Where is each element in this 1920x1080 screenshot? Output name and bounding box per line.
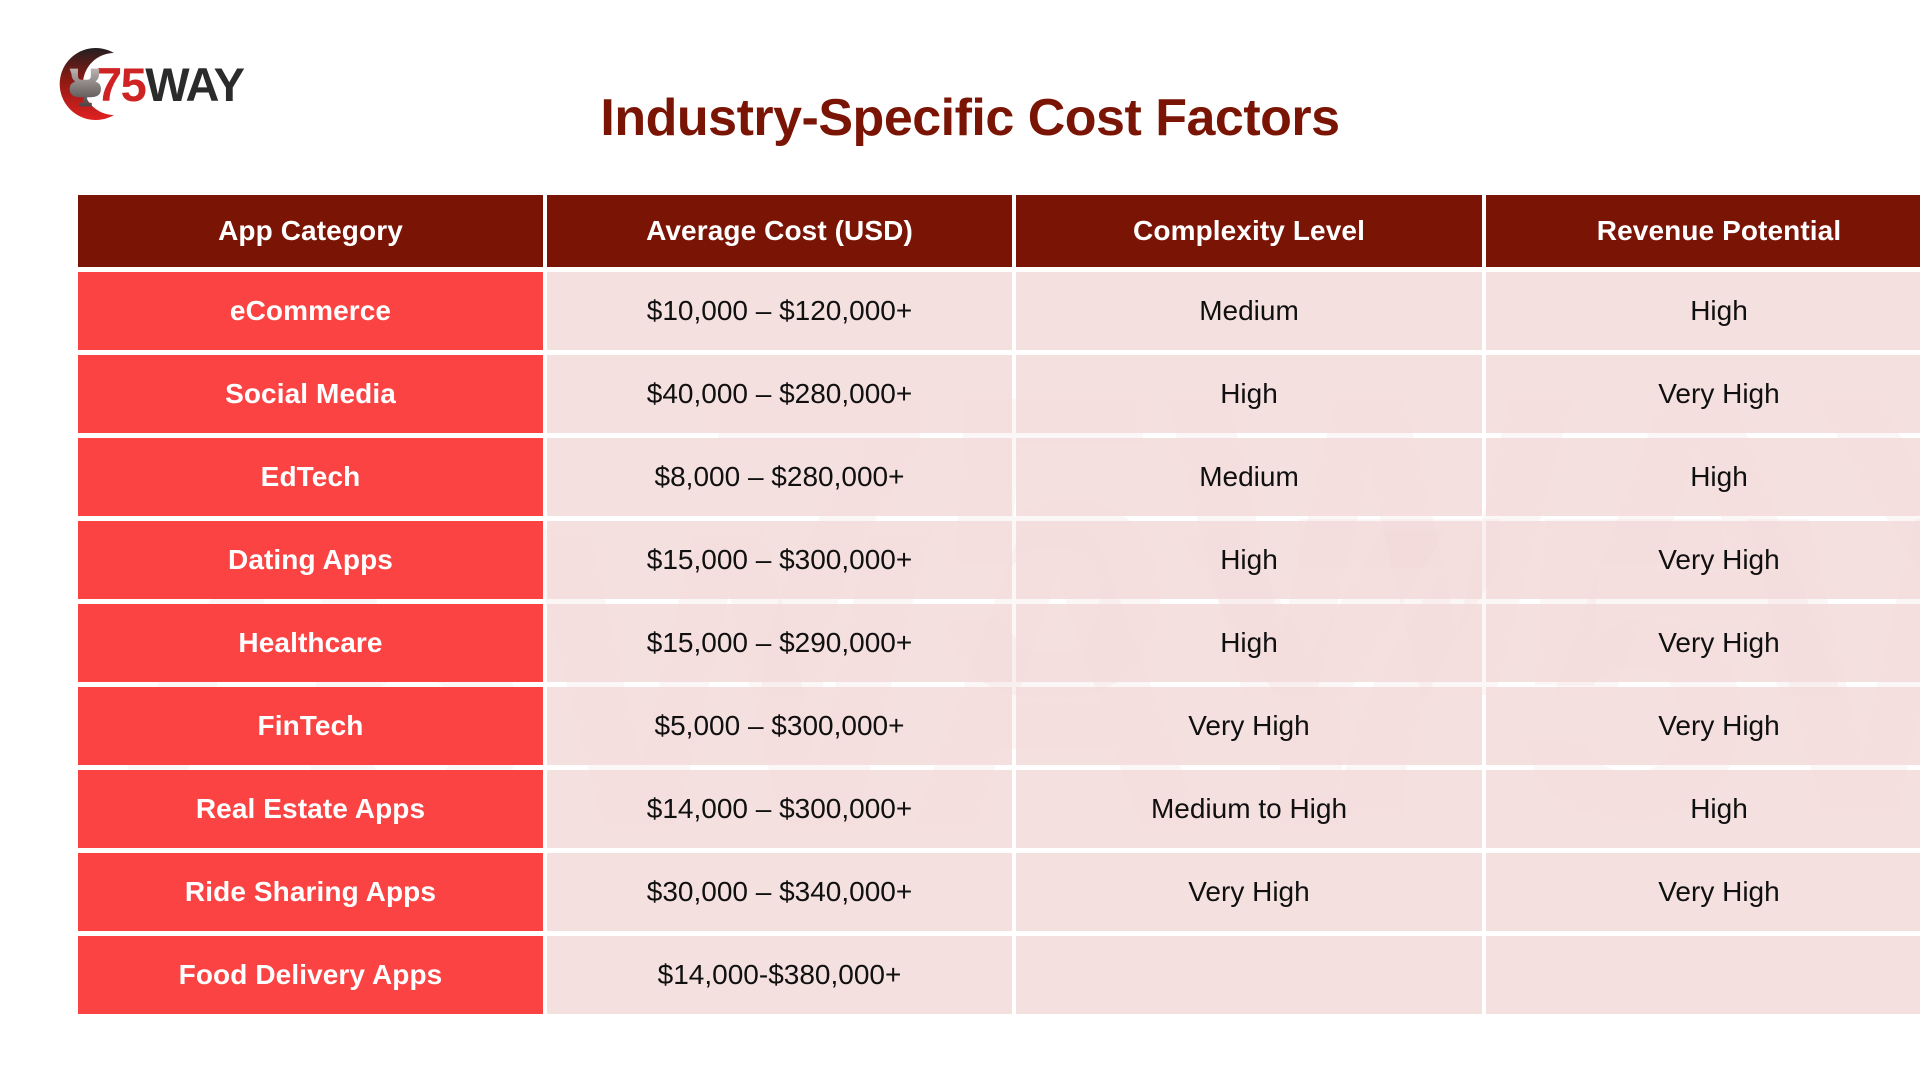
cell-category: Ride Sharing Apps	[78, 853, 543, 931]
column-header-complexity-level: Complexity Level	[1016, 195, 1482, 267]
table-row: Food Delivery Apps $14,000-$380,000+	[78, 936, 1920, 1014]
cell-cost: $14,000-$380,000+	[547, 936, 1012, 1014]
cost-factors-table: App Category Average Cost (USD) Complexi…	[74, 190, 1920, 1019]
cell-complexity: Very High	[1016, 687, 1482, 765]
cell-complexity: Medium to High	[1016, 770, 1482, 848]
cell-revenue: High	[1486, 438, 1920, 516]
cell-complexity: High	[1016, 521, 1482, 599]
cost-factors-table-wrapper: App Category Average Cost (USD) Complexi…	[34, 190, 1886, 1019]
cell-cost: $8,000 – $280,000+	[547, 438, 1012, 516]
cell-category: Healthcare	[78, 604, 543, 682]
cell-cost: $15,000 – $300,000+	[547, 521, 1012, 599]
page-title: Industry-Specific Cost Factors	[0, 88, 1920, 148]
column-header-revenue-potential: Revenue Potential	[1486, 195, 1920, 267]
cell-category: EdTech	[78, 438, 543, 516]
table-header-row: App Category Average Cost (USD) Complexi…	[78, 195, 1920, 267]
cell-cost: $15,000 – $290,000+	[547, 604, 1012, 682]
table-row: Ride Sharing Apps $30,000 – $340,000+ Ve…	[78, 853, 1920, 931]
cell-revenue	[1486, 936, 1920, 1014]
cell-category: Food Delivery Apps	[78, 936, 543, 1014]
cell-cost: $14,000 – $300,000+	[547, 770, 1012, 848]
table-row: Healthcare $15,000 – $290,000+ High Very…	[78, 604, 1920, 682]
cell-category: Dating Apps	[78, 521, 543, 599]
cell-cost: $40,000 – $280,000+	[547, 355, 1012, 433]
column-header-app-category: App Category	[78, 195, 543, 267]
page-header: 75WAY Industry-Specific Cost Factors	[0, 0, 1920, 190]
cell-category: Social Media	[78, 355, 543, 433]
table-header: App Category Average Cost (USD) Complexi…	[78, 195, 1920, 267]
cell-complexity	[1016, 936, 1482, 1014]
cell-category: eCommerce	[78, 272, 543, 350]
table-row: Social Media $40,000 – $280,000+ High Ve…	[78, 355, 1920, 433]
table-row: Dating Apps $15,000 – $300,000+ High Ver…	[78, 521, 1920, 599]
cell-revenue: Very High	[1486, 521, 1920, 599]
cell-revenue: Very High	[1486, 687, 1920, 765]
cell-category: FinTech	[78, 687, 543, 765]
table-row: EdTech $8,000 – $280,000+ Medium High	[78, 438, 1920, 516]
cell-revenue: High	[1486, 770, 1920, 848]
column-header-average-cost: Average Cost (USD)	[547, 195, 1012, 267]
cell-revenue: Very High	[1486, 604, 1920, 682]
cell-revenue: Very High	[1486, 853, 1920, 931]
cell-complexity: Medium	[1016, 438, 1482, 516]
cell-cost: $5,000 – $300,000+	[547, 687, 1012, 765]
table-row: FinTech $5,000 – $300,000+ Very High Ver…	[78, 687, 1920, 765]
table-row: Real Estate Apps $14,000 – $300,000+ Med…	[78, 770, 1920, 848]
cell-complexity: High	[1016, 355, 1482, 433]
cell-complexity: Medium	[1016, 272, 1482, 350]
cell-category: Real Estate Apps	[78, 770, 543, 848]
cell-revenue: Very High	[1486, 355, 1920, 433]
cell-cost: $10,000 – $120,000+	[547, 272, 1012, 350]
cell-complexity: High	[1016, 604, 1482, 682]
table-body: eCommerce $10,000 – $120,000+ Medium Hig…	[78, 272, 1920, 1014]
cell-cost: $30,000 – $340,000+	[547, 853, 1012, 931]
cell-revenue: High	[1486, 272, 1920, 350]
cell-complexity: Very High	[1016, 853, 1482, 931]
table-row: eCommerce $10,000 – $120,000+ Medium Hig…	[78, 272, 1920, 350]
